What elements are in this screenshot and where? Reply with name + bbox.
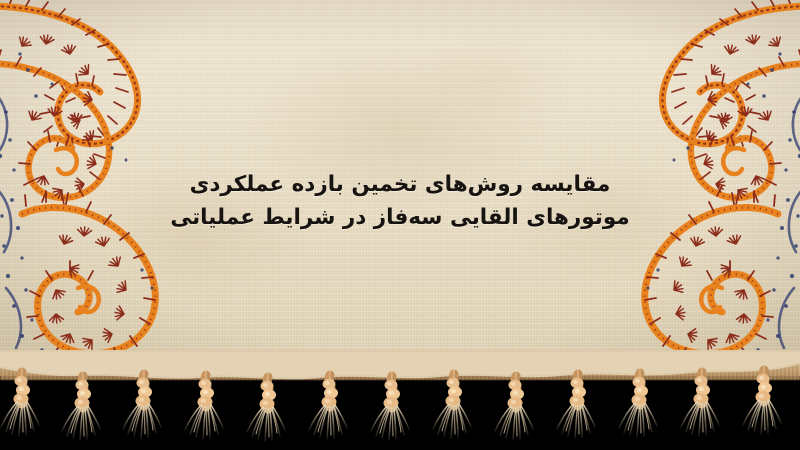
title-line-1: مقایسه روش‌های تخمین بازده عملکردی xyxy=(0,168,800,201)
knotted-tassel-fringe xyxy=(0,350,800,450)
banner-title: مقایسه روش‌های تخمین بازده عملکردی موتور… xyxy=(0,168,800,234)
title-line-2: موتورهای القایی سه‌فاز در شرایط عملیاتی xyxy=(0,201,800,234)
textile-banner-canvas: مقایسه روش‌های تخمین بازده عملکردی موتور… xyxy=(0,0,800,450)
